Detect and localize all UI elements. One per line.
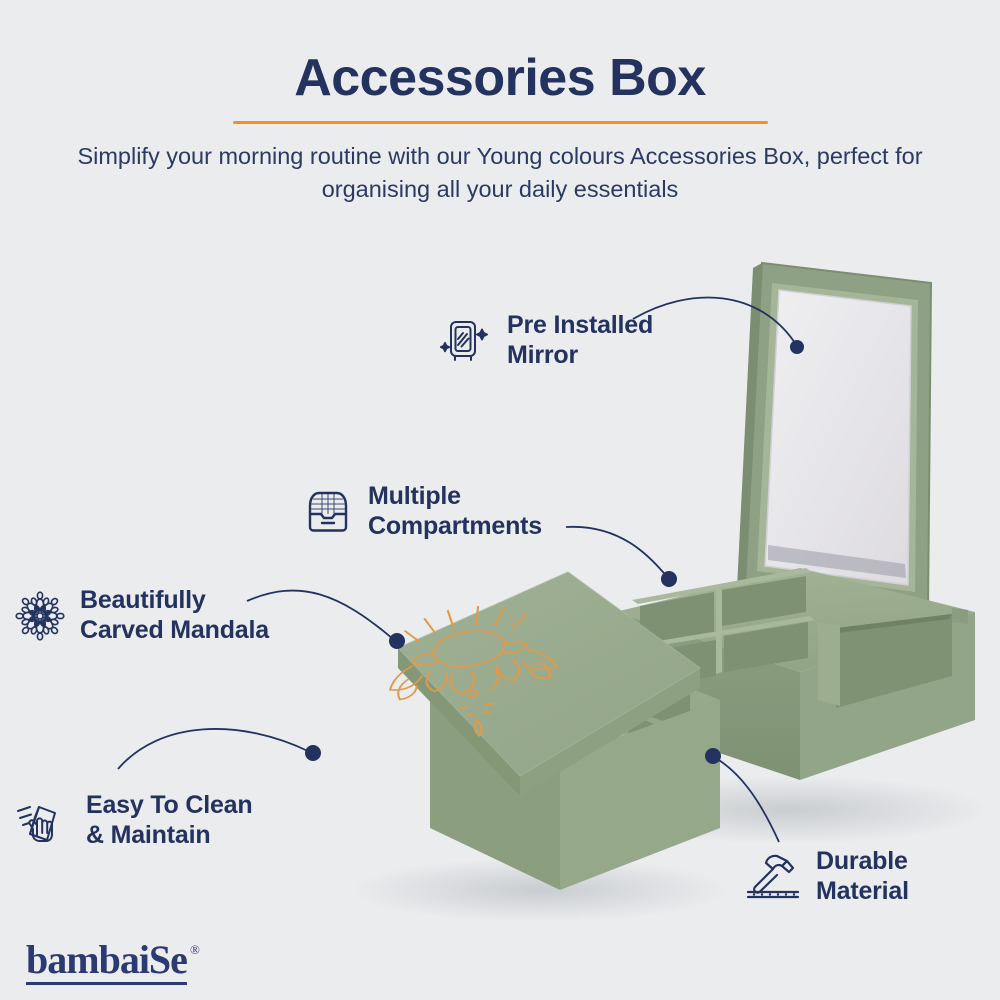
feature-durable-material[interactable]: Durable Material: [744, 847, 909, 906]
mirror-lid: [737, 263, 931, 610]
feature-label: Easy To Clean & Maintain: [86, 791, 252, 850]
mirror-icon: [437, 313, 493, 369]
brand-logo[interactable]: bambaiSe ®: [26, 940, 200, 985]
feature-easy-to-clean[interactable]: Easy To Clean & Maintain: [14, 791, 252, 850]
plank-dots: [753, 893, 795, 895]
feature-carved-mandala[interactable]: Beautifully Carved Mandala: [14, 586, 269, 645]
feature-label: Pre Installed Mirror: [507, 311, 653, 370]
feature-label: Durable Material: [816, 847, 909, 906]
feature-pre-installed-mirror[interactable]: Pre Installed Mirror: [437, 311, 653, 370]
brand-name: bambaiSe: [26, 940, 187, 985]
page-subtitle: Simplify your morning routine with our Y…: [55, 140, 945, 207]
title-divider: [233, 121, 768, 124]
mandala-flower-icon: [14, 590, 66, 642]
feature-label: Beautifully Carved Mandala: [80, 586, 269, 645]
feature-multiple-compartments[interactable]: Multiple Compartments: [302, 482, 542, 541]
wiping-hand-icon: [14, 793, 72, 849]
compartments-tray-icon: [302, 486, 354, 538]
hammer-icon: [744, 848, 802, 906]
registered-trademark-icon: ®: [190, 942, 200, 958]
feature-label: Multiple Compartments: [368, 482, 542, 541]
page-title: Accessories Box: [0, 50, 1000, 107]
infographic-canvas: Pre Installed Mirror Multiple Compartmen…: [0, 0, 1000, 1000]
